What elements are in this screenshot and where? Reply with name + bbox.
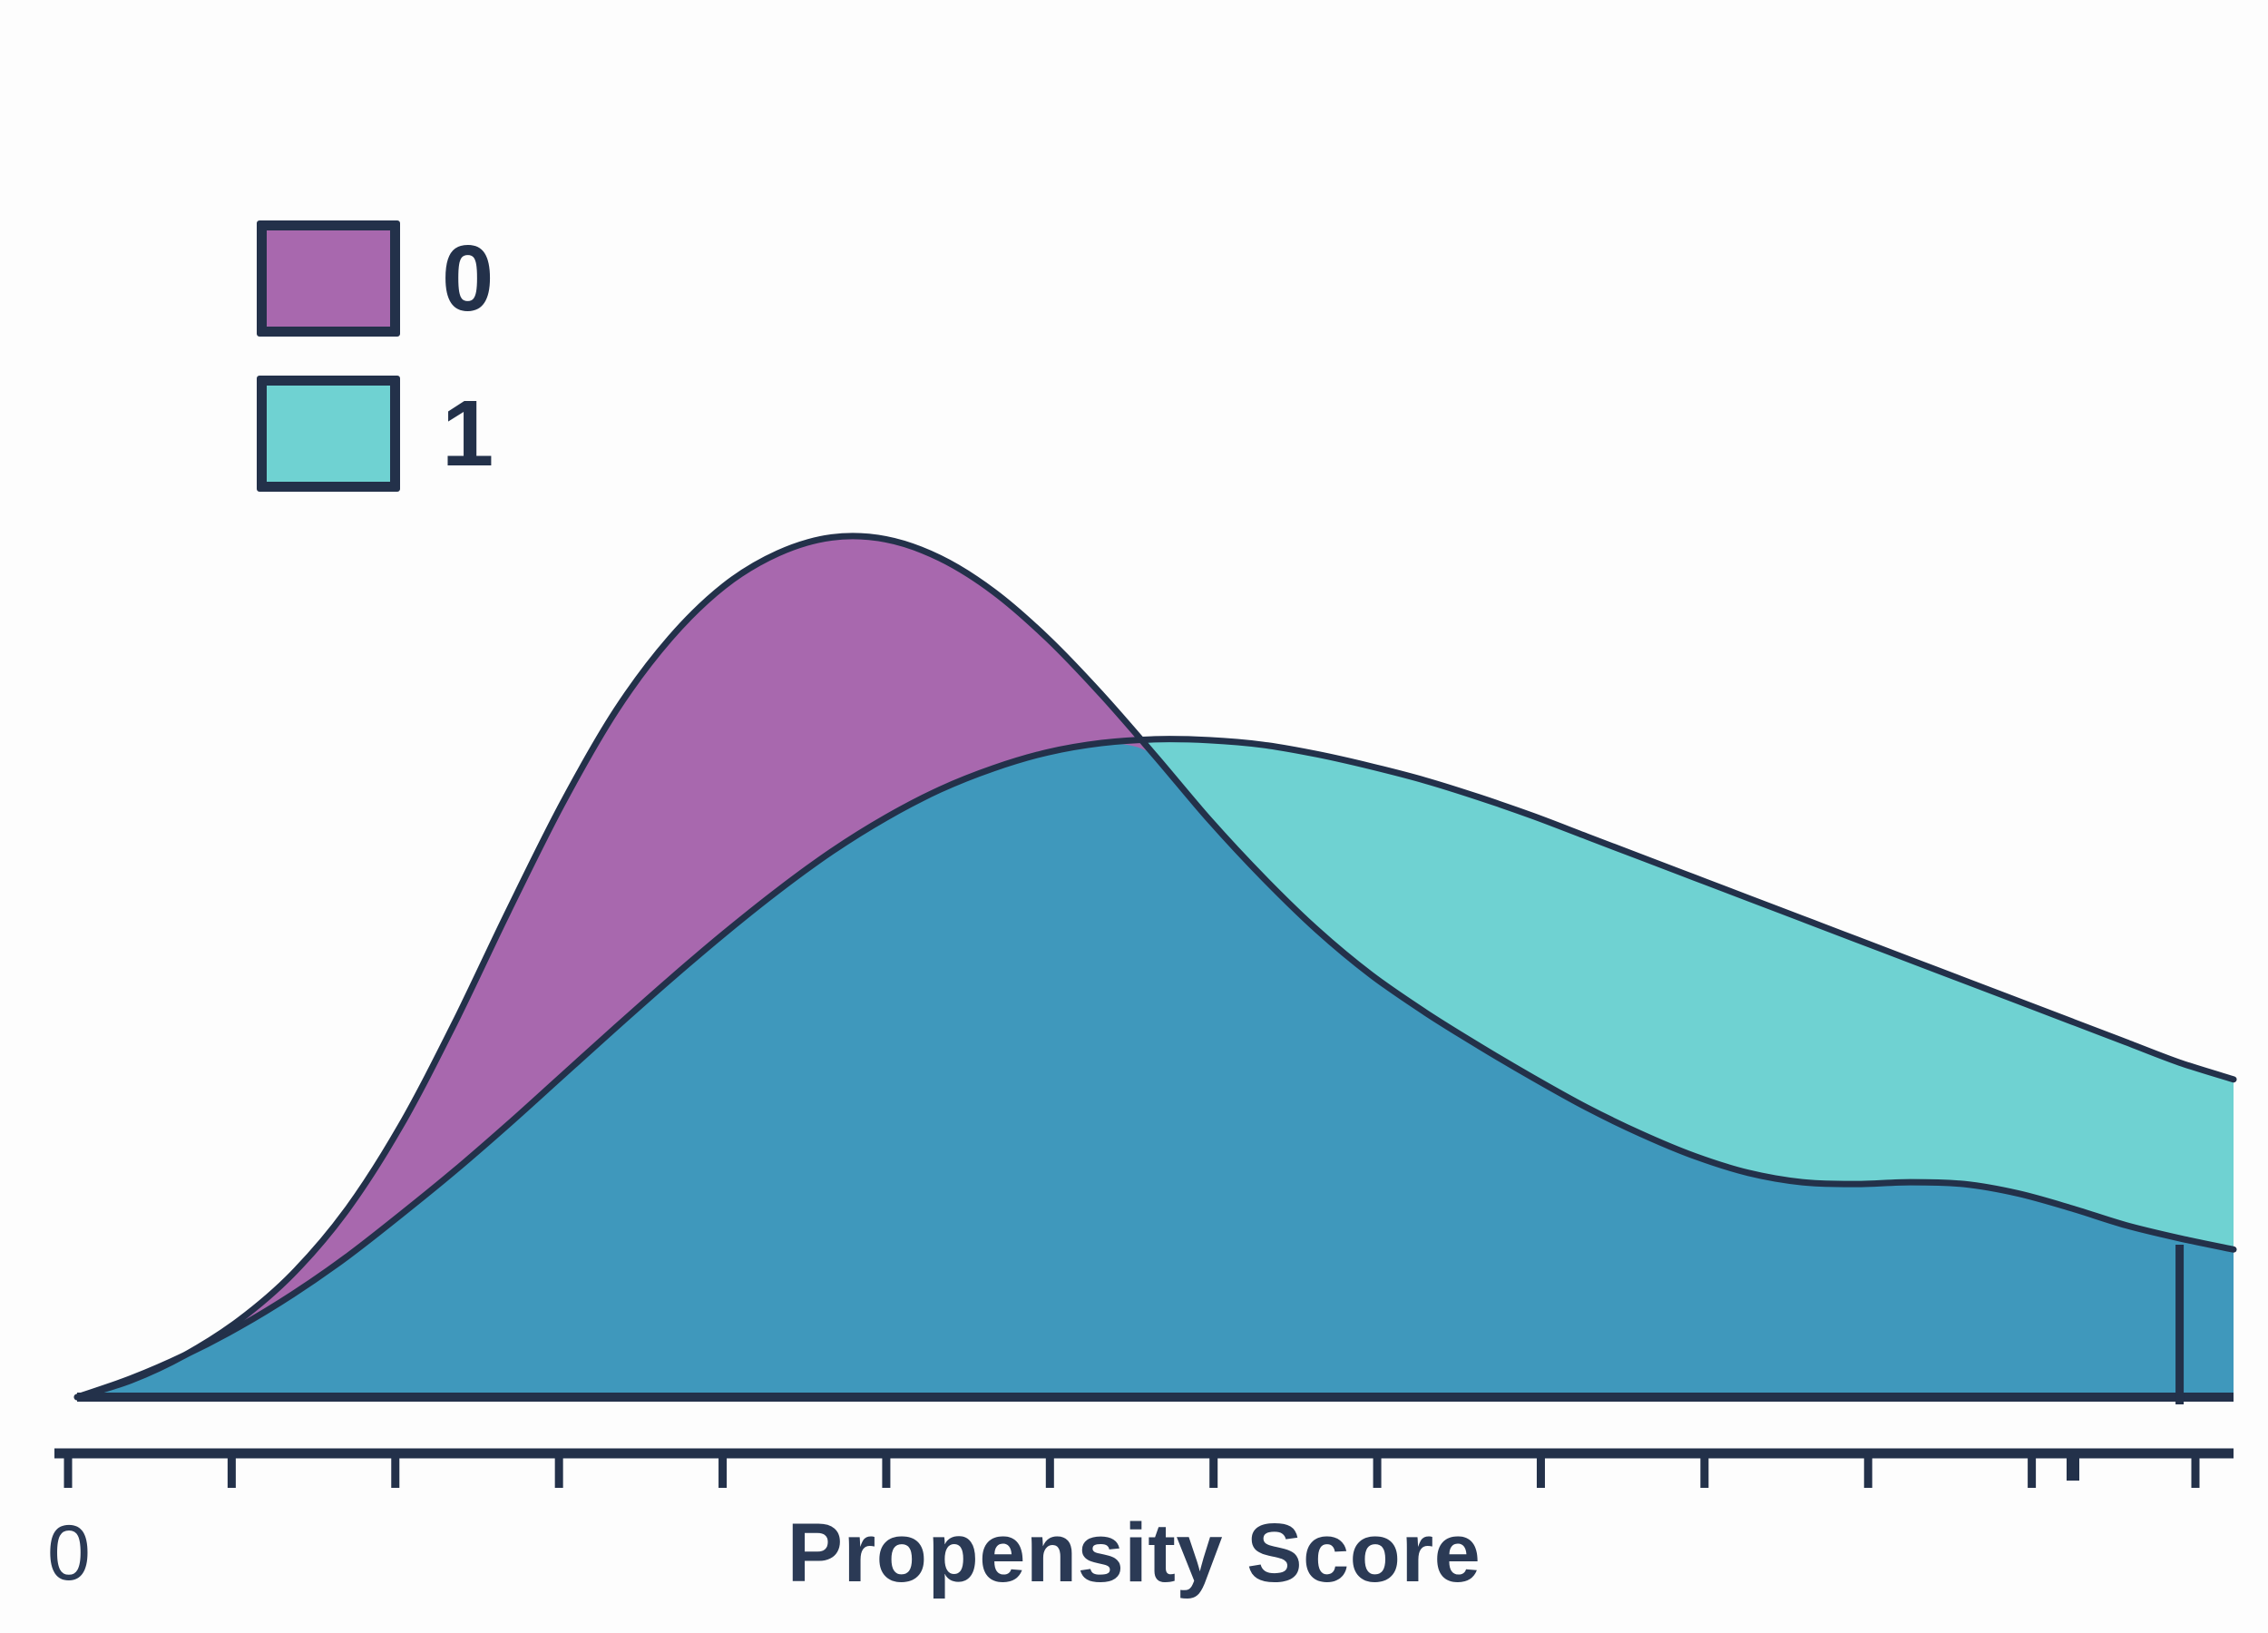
legend-label-class-0: 0 <box>442 237 493 321</box>
density-areas-group <box>77 536 2234 1397</box>
legend-item-1[interactable]: 1 <box>257 376 493 492</box>
legend: 0 1 <box>257 220 493 492</box>
x-axis-ticks <box>68 1453 2195 1488</box>
legend-label-class-1: 1 <box>442 392 493 476</box>
x-axis-label: Propensity Score <box>0 1506 2268 1601</box>
legend-item-0[interactable]: 0 <box>257 220 493 337</box>
legend-swatch-class-1 <box>257 376 400 492</box>
x-axis-origin-tick-label: 0 <box>47 1509 89 1599</box>
propensity-score-density-figure: 0 1 Propensity Score 0 <box>0 0 2268 1633</box>
legend-swatch-class-0 <box>257 220 400 337</box>
x-axis-group <box>54 1453 2234 1488</box>
